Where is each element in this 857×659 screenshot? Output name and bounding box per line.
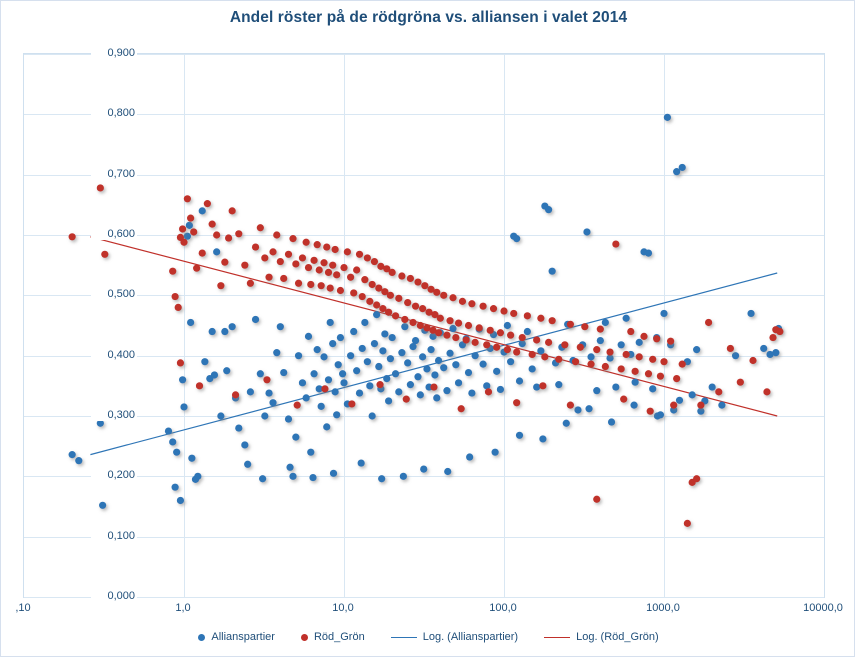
data-point — [446, 317, 453, 324]
data-point — [199, 207, 206, 214]
data-point — [265, 274, 272, 281]
data-point — [187, 319, 194, 326]
data-point — [472, 339, 479, 346]
data-point — [364, 358, 371, 365]
data-point — [385, 397, 392, 404]
data-point — [263, 376, 270, 383]
data-point — [419, 353, 426, 360]
series-r-d-gr-n — [69, 184, 784, 527]
data-point — [172, 484, 179, 491]
data-point — [673, 375, 680, 382]
data-point — [412, 337, 419, 344]
data-point — [602, 319, 609, 326]
data-point — [356, 251, 363, 258]
data-point — [177, 359, 184, 366]
data-point — [567, 402, 574, 409]
data-point — [632, 368, 639, 375]
data-point — [179, 376, 186, 383]
data-point — [229, 207, 236, 214]
data-point — [295, 352, 302, 359]
data-point — [333, 271, 340, 278]
chart-legend: AllianspartierRöd_GrönLog. (Alliansparti… — [1, 631, 856, 643]
data-point — [718, 402, 725, 409]
data-point — [292, 260, 299, 267]
data-point — [294, 402, 301, 409]
data-point — [366, 382, 373, 389]
data-point — [269, 248, 276, 255]
data-point — [398, 349, 405, 356]
data-point — [252, 243, 259, 250]
data-point — [285, 415, 292, 422]
data-point — [507, 358, 514, 365]
data-point — [277, 323, 284, 330]
data-point — [423, 365, 430, 372]
legend-label: Röd_Grön — [314, 631, 365, 643]
legend-line-icon — [544, 637, 570, 638]
data-point — [356, 389, 363, 396]
data-point — [241, 441, 248, 448]
data-point — [186, 222, 193, 229]
data-point — [537, 315, 544, 322]
data-point — [476, 324, 483, 331]
data-point — [776, 328, 783, 335]
data-point — [337, 334, 344, 341]
data-point — [261, 254, 268, 261]
x-axis-tick-label: 10000,0 — [803, 602, 843, 614]
data-point — [529, 351, 536, 358]
data-point — [407, 381, 414, 388]
data-point — [325, 269, 332, 276]
legend-item[interactable]: Röd_Grön — [301, 631, 365, 643]
data-point — [366, 298, 373, 305]
data-point — [395, 295, 402, 302]
data-point — [244, 461, 251, 468]
data-point — [309, 474, 316, 481]
data-point — [353, 367, 360, 374]
data-point — [404, 359, 411, 366]
data-point — [513, 399, 520, 406]
data-point — [676, 397, 683, 404]
data-point — [435, 357, 442, 364]
data-point — [664, 114, 671, 121]
data-point — [318, 282, 325, 289]
y-axis: 0,0000,1000,2000,3000,4000,5000,6000,700… — [85, 53, 137, 596]
legend-line-icon — [391, 637, 417, 638]
data-point — [465, 322, 472, 329]
data-point — [431, 371, 438, 378]
data-point — [539, 435, 546, 442]
data-point — [417, 391, 424, 398]
data-point — [497, 329, 504, 336]
data-point — [583, 228, 590, 235]
data-point — [419, 305, 426, 312]
data-point — [371, 258, 378, 265]
series-allianspartier — [69, 114, 783, 509]
data-point — [417, 322, 424, 329]
data-point — [347, 352, 354, 359]
data-point — [347, 274, 354, 281]
data-point — [649, 385, 656, 392]
legend-label: Log. (Allianspartier) — [423, 631, 518, 643]
data-point — [359, 293, 366, 300]
data-point — [493, 368, 500, 375]
data-point — [516, 432, 523, 439]
data-point — [443, 387, 450, 394]
data-point — [221, 259, 228, 266]
data-point — [541, 353, 548, 360]
data-point — [693, 475, 700, 482]
data-point — [75, 457, 82, 464]
data-point — [492, 449, 499, 456]
data-point — [636, 339, 643, 346]
data-point — [273, 231, 280, 238]
data-point — [667, 338, 674, 345]
data-point — [204, 200, 211, 207]
data-point — [379, 347, 386, 354]
data-point — [468, 389, 475, 396]
data-point — [444, 468, 451, 475]
data-point — [684, 520, 691, 527]
data-point — [401, 323, 408, 330]
data-point — [327, 319, 334, 326]
data-point — [452, 334, 459, 341]
data-point — [769, 334, 776, 341]
data-point — [307, 449, 314, 456]
data-point — [693, 346, 700, 353]
data-point — [640, 333, 647, 340]
data-point — [597, 326, 604, 333]
data-point — [221, 328, 228, 335]
data-point — [325, 376, 332, 383]
data-point — [299, 379, 306, 386]
data-point — [289, 235, 296, 242]
data-point — [627, 328, 634, 335]
data-point — [229, 323, 236, 330]
data-point — [190, 228, 197, 235]
chart-title: Andel röster på de rödgröna vs. allianse… — [1, 9, 856, 27]
data-point — [539, 382, 546, 389]
data-point — [387, 355, 394, 362]
data-point — [715, 388, 722, 395]
data-point — [504, 322, 511, 329]
data-point — [332, 246, 339, 253]
data-point — [763, 388, 770, 395]
data-point — [636, 353, 643, 360]
data-point — [235, 424, 242, 431]
data-point — [235, 230, 242, 237]
data-point — [172, 293, 179, 300]
data-point — [209, 221, 216, 228]
data-point — [516, 377, 523, 384]
data-point — [303, 394, 310, 401]
data-point — [169, 438, 176, 445]
data-point — [329, 340, 336, 347]
data-point — [194, 473, 201, 480]
x-axis-tick-label: 100,0 — [489, 602, 517, 614]
data-point — [350, 289, 357, 296]
legend-item[interactable]: Log. (Röd_Grön) — [544, 631, 659, 643]
y-axis-tick-label: 0,300 — [91, 409, 137, 421]
data-point — [660, 310, 667, 317]
x-axis-tick-label: 1,0 — [175, 602, 190, 614]
data-point — [179, 225, 186, 232]
data-point — [435, 329, 442, 336]
data-point — [314, 346, 321, 353]
data-point — [620, 396, 627, 403]
data-point — [316, 266, 323, 273]
data-point — [608, 418, 615, 425]
data-point — [286, 464, 293, 471]
data-point — [440, 364, 447, 371]
plot-area — [23, 53, 825, 598]
data-point — [320, 353, 327, 360]
data-point — [649, 356, 656, 363]
data-point — [465, 369, 472, 376]
data-point — [602, 363, 609, 370]
data-point — [332, 388, 339, 395]
data-point — [323, 423, 330, 430]
data-point — [533, 336, 540, 343]
data-point — [387, 292, 394, 299]
data-point — [299, 254, 306, 261]
data-point — [483, 382, 490, 389]
data-point — [660, 358, 667, 365]
data-point — [414, 278, 421, 285]
data-point — [618, 341, 625, 348]
data-point — [165, 427, 172, 434]
data-point — [593, 496, 600, 503]
data-point — [188, 455, 195, 462]
data-point — [555, 356, 562, 363]
data-point — [404, 299, 411, 306]
data-point — [430, 383, 437, 390]
gridline-horizontal — [24, 597, 824, 598]
y-axis-tick-label: 0,800 — [91, 107, 137, 119]
data-point — [376, 381, 383, 388]
data-point — [327, 284, 334, 291]
data-point — [449, 325, 456, 332]
data-point — [412, 303, 419, 310]
data-point — [507, 332, 514, 339]
data-point — [280, 275, 287, 282]
data-point — [510, 310, 517, 317]
data-point — [314, 241, 321, 248]
data-point — [310, 370, 317, 377]
data-point — [321, 385, 328, 392]
data-point — [612, 240, 619, 247]
data-point — [654, 412, 661, 419]
data-point — [257, 224, 264, 231]
data-point — [455, 319, 462, 326]
legend-label: Allianspartier — [211, 631, 275, 643]
data-point — [577, 344, 584, 351]
data-point — [468, 300, 475, 307]
data-point — [305, 333, 312, 340]
data-point — [401, 316, 408, 323]
data-point — [340, 379, 347, 386]
data-point — [485, 388, 492, 395]
data-point — [389, 269, 396, 276]
data-point — [645, 370, 652, 377]
data-point — [593, 346, 600, 353]
data-point — [213, 231, 220, 238]
data-point — [497, 386, 504, 393]
data-point — [225, 234, 232, 241]
data-point — [375, 284, 382, 291]
y-axis-tick-label: 0,000 — [91, 590, 137, 602]
data-point — [513, 348, 520, 355]
data-point — [709, 383, 716, 390]
data-point — [247, 280, 254, 287]
data-point — [472, 352, 479, 359]
data-point — [285, 251, 292, 258]
data-point — [69, 233, 76, 240]
data-point — [217, 412, 224, 419]
data-point — [193, 265, 200, 272]
data-point — [645, 250, 652, 257]
y-axis-tick-label: 0,700 — [91, 168, 137, 180]
data-point — [265, 389, 272, 396]
data-point — [679, 164, 686, 171]
data-point — [490, 305, 497, 312]
data-point — [395, 388, 402, 395]
data-point — [361, 319, 368, 326]
data-point — [323, 243, 330, 250]
trendline — [90, 273, 777, 455]
data-point — [292, 434, 299, 441]
data-point — [647, 408, 654, 415]
data-point — [196, 382, 203, 389]
data-point — [572, 358, 579, 365]
data-point — [618, 365, 625, 372]
data-point — [727, 345, 734, 352]
data-point — [348, 400, 355, 407]
data-point — [632, 379, 639, 386]
data-point — [273, 349, 280, 356]
data-point — [679, 361, 686, 368]
data-point — [310, 257, 317, 264]
data-point — [175, 304, 182, 311]
data-point — [280, 369, 287, 376]
data-point — [587, 361, 594, 368]
data-point — [177, 497, 184, 504]
data-point — [623, 351, 630, 358]
data-point — [261, 412, 268, 419]
data-point — [421, 282, 428, 289]
data-point — [409, 319, 416, 326]
data-point — [392, 312, 399, 319]
data-point — [433, 289, 440, 296]
data-point — [574, 406, 581, 413]
data-point — [373, 301, 380, 308]
data-point — [303, 239, 310, 246]
data-point — [169, 268, 176, 275]
y-axis-tick-label: 0,500 — [91, 288, 137, 300]
data-point — [199, 250, 206, 257]
data-point — [487, 327, 494, 334]
data-point — [252, 316, 259, 323]
data-point — [500, 307, 507, 314]
data-point — [455, 379, 462, 386]
data-point — [180, 403, 187, 410]
data-point — [585, 405, 592, 412]
data-point — [772, 349, 779, 356]
data-point — [371, 340, 378, 347]
data-point — [209, 328, 216, 335]
data-point — [350, 328, 357, 335]
data-point — [335, 361, 342, 368]
data-point — [337, 287, 344, 294]
data-point — [760, 345, 767, 352]
data-point — [653, 335, 660, 342]
data-point — [433, 394, 440, 401]
data-point — [414, 373, 421, 380]
data-point — [513, 235, 520, 242]
data-point — [173, 449, 180, 456]
chart-container: Andel röster på de rödgröna vs. allianse… — [0, 0, 855, 657]
data-point — [364, 254, 371, 261]
data-points-group — [69, 114, 784, 527]
x-axis-tick-label: 1000,0 — [646, 602, 680, 614]
data-point — [385, 309, 392, 316]
data-point — [307, 281, 314, 288]
data-point — [333, 411, 340, 418]
data-point — [670, 402, 677, 409]
data-point — [259, 475, 266, 482]
data-point — [398, 272, 405, 279]
data-point — [561, 341, 568, 348]
data-point — [375, 363, 382, 370]
data-point — [567, 321, 574, 328]
data-point — [623, 315, 630, 322]
data-point — [201, 358, 208, 365]
data-point — [213, 248, 220, 255]
data-point — [437, 315, 444, 322]
x-axis-tick-label: ,10 — [15, 602, 30, 614]
legend-item[interactable]: Log. (Allianspartier) — [391, 631, 518, 643]
data-point — [217, 282, 224, 289]
data-point — [180, 239, 187, 246]
data-point — [697, 402, 704, 409]
data-point — [318, 403, 325, 410]
legend-label: Log. (Röd_Grön) — [576, 631, 659, 643]
data-point — [277, 258, 284, 265]
data-point — [524, 312, 531, 319]
data-point — [657, 373, 664, 380]
data-point — [493, 344, 500, 351]
data-point — [443, 332, 450, 339]
data-point — [257, 370, 264, 377]
data-point — [459, 298, 466, 305]
data-point — [747, 310, 754, 317]
data-point — [69, 451, 76, 458]
data-point — [184, 233, 191, 240]
y-axis-tick-label: 0,600 — [91, 228, 137, 240]
data-point — [545, 339, 552, 346]
legend-item[interactable]: Allianspartier — [198, 631, 275, 643]
data-point — [463, 336, 470, 343]
data-point — [705, 319, 712, 326]
data-point — [466, 453, 473, 460]
data-point — [305, 264, 312, 271]
data-point — [479, 303, 486, 310]
data-point — [689, 391, 696, 398]
data-point — [420, 465, 427, 472]
data-point — [732, 352, 739, 359]
data-point — [563, 420, 570, 427]
data-point — [339, 370, 346, 377]
x-axis: ,101,010,0100,01000,010000,0 — [23, 602, 823, 618]
